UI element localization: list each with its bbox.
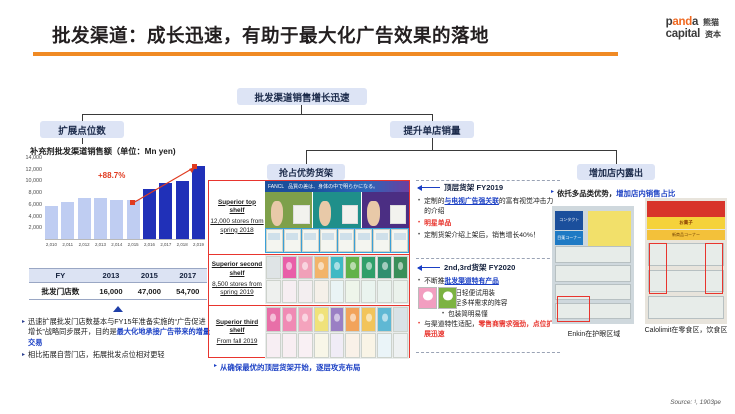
photo-a-sign: コンタクト: [555, 211, 583, 230]
list-item: •满足多样需求的阵容: [442, 299, 558, 309]
bullet-marker-icon: •: [442, 310, 444, 320]
table-cell: 54,700: [169, 283, 207, 299]
table-cell: 批发门店数: [29, 283, 92, 299]
brand-logo: panda 熊猫 capital 资本: [666, 17, 721, 40]
chart-y-tick: 10,000: [26, 178, 43, 184]
photo-b-caption: Calolimit在零食区，饮食区: [640, 326, 732, 335]
mini-product-packs: [418, 287, 457, 309]
chart-bar: [159, 183, 172, 239]
logo-en-line1: panda: [666, 17, 698, 29]
connector-to-shelf: [306, 150, 307, 164]
photo-b-highlight-box-right: [705, 243, 723, 293]
list-item-text: 定制货架介绍上架后，销售增长40%！: [424, 231, 558, 241]
list-item-text: 与渠道特性适配，零售商需求强劲，点位扩展迅速: [424, 320, 558, 340]
shelf-row-second: Superior second shelf 8,500 stores from …: [209, 254, 409, 304]
chart-x-tick: 2,010: [45, 242, 58, 247]
chart-bar: [110, 200, 123, 239]
left-bullet-list: ▸迅速扩展批发门店数基本与FY15年准备实施的“广告促进增长”战略同步展开，目的…: [22, 317, 212, 363]
shelf-bullets-fy2019: 顶层货架 FY2019 •定制的与电视广告强关联的富有视觉冲击力的介绍•明星单品…: [418, 182, 558, 242]
list-item: •明星单品: [418, 219, 558, 229]
connector-root-down: [301, 105, 302, 114]
list-item-text: 迅速扩展批发门店数基本与FY15年准备实施的“广告促进增长”战略同步展开，目的是…: [28, 317, 212, 348]
chart-x-tick: 2,018: [176, 242, 189, 247]
shelf-row-top: Superior top shelf 12,000 stores from sp…: [209, 181, 409, 253]
store-photo-calolimit: お菓子 新商品コーナー: [645, 198, 727, 324]
photo-a-shelf-2: [555, 265, 630, 282]
wholesale-sales-bar-chart: 14,00012,00010,0008,0006,0004,0002,000 2…: [12, 158, 207, 256]
chart-bar: [45, 206, 58, 239]
left-arrow-icon: [418, 187, 440, 188]
shelf-image-third: [265, 306, 409, 359]
chart-y-tick: 8,000: [29, 190, 43, 196]
list-item-text: 不断推批发渠道特有产品: [424, 277, 558, 287]
list-item: •包装简明易懂: [442, 310, 558, 320]
list-item-text: 满足多样需求的阵容: [448, 299, 558, 309]
chart-x-tick: 2,012: [78, 242, 91, 247]
table-cell: 47,000: [130, 283, 168, 299]
chart-plot-area: [45, 158, 205, 240]
shelf-bullets-fy2020-head: 2nd,3rd货架 FY2020: [418, 262, 558, 273]
table-cell: 16,000: [92, 283, 130, 299]
connector-sales-down: [432, 138, 433, 150]
photo-b-sign-line2: 新商品コーナー: [647, 230, 726, 240]
shelf-bullets-fy2019-items: •定制的与电视广告强关联的富有视觉冲击力的介绍•明星单品•定制货架介绍上架后，销…: [418, 197, 558, 240]
photo-b-highlight-box-left: [649, 243, 667, 293]
shelf-bullets-fy2020-items: •不断推批发渠道特有产品: [418, 277, 558, 287]
flow-node-store-sales[interactable]: 提升单店销量: [390, 121, 474, 138]
connector-expand-down: [82, 138, 83, 144]
page-title: 批发渠道：成长迅速，有助于最大化广告效果的落地: [52, 22, 489, 48]
shelf-grid-third: [265, 306, 409, 359]
list-item: •不断推批发渠道特有产品: [418, 277, 558, 287]
slide-root: 批发渠道：成长迅速，有助于最大化广告效果的落地 panda 熊猫 capital…: [0, 0, 735, 414]
shelf-label-second: Superior second shelf 8,500 stores from …: [209, 255, 265, 304]
list-item: ▸相比拓展自营门店，拓展批发点位相对更轻: [22, 350, 212, 360]
chart-y-tick: 14,000: [26, 155, 43, 161]
dashed-separator-mid: [416, 258, 560, 259]
shelf-grid-second: [265, 255, 409, 304]
photo-b-header-banner: [647, 201, 726, 217]
list-item: •与渠道特性适配，零售商需求强劲，点位扩展迅速: [418, 320, 558, 340]
bullet-marker-icon: •: [418, 277, 420, 287]
list-item: ▸迅速扩展批发门店数基本与FY15年准备实施的“广告促进增长”战略同步展开，目的…: [22, 317, 212, 348]
fancl-ad-panels: [265, 192, 409, 228]
logo-cn-line2: 资本: [705, 31, 721, 39]
connector-sales-horizontal: [306, 150, 616, 151]
up-arrow-icon: [113, 306, 123, 312]
left-arrow-icon-2: [418, 267, 440, 268]
chart-x-tick: 2,017: [159, 242, 172, 247]
connector-to-exposure: [616, 150, 617, 164]
chart-x-axis: 2,0102,0112,0122,0132,0142,0152,0162,017…: [45, 242, 205, 247]
dashed-separator-bottom: [416, 352, 560, 353]
logo-cn-line1: 熊猫: [703, 19, 719, 27]
flow-node-in-store-exposure[interactable]: 增加店内露出: [577, 164, 655, 180]
bullet-marker-icon: ▸: [214, 362, 217, 373]
shelf-products-top: [265, 228, 409, 253]
bullet-marker-icon: •: [418, 219, 420, 229]
chart-bar: [78, 198, 91, 239]
table-column-header: 2013: [92, 269, 130, 283]
shelf-label-top: Superior top shelf 12,000 stores from sp…: [209, 181, 265, 253]
chart-x-tick: 2,015: [127, 242, 140, 247]
shelf-bullets-fy2019-head: 顶层货架 FY2019: [418, 182, 558, 193]
table-header-row: FY201320152017: [29, 269, 207, 283]
logo-en-line2: capital: [666, 29, 700, 41]
chart-y-axis: 14,00012,00010,0008,0006,0004,0002,000: [12, 158, 44, 240]
list-item-text: 包装简明易懂: [448, 310, 558, 320]
list-item-text: 相比拓展自营门店，拓展批发点位相对更轻: [28, 350, 212, 360]
mid-caption: ▸ 从确保最优的顶层货架开始，逐层攻克布局: [214, 362, 444, 373]
chart-bar: [94, 198, 107, 239]
flow-node-expand-points[interactable]: 扩展点位数: [40, 121, 124, 138]
table-body: 批发门店数16,00047,00054,700: [29, 283, 207, 299]
shelf-label-third: Superior third shelf From fall 2019: [209, 306, 265, 359]
list-item: •定制货架介绍上架后，销售增长40%！: [418, 231, 558, 241]
table-column-header: 2015: [130, 269, 168, 283]
shelf-photo-frame: Superior top shelf 12,000 stores from sp…: [208, 180, 410, 358]
flow-node-root[interactable]: 批发渠道销售增长迅速: [237, 88, 367, 105]
chart-y-tick: 2,000: [29, 225, 43, 231]
chart-bar: [176, 181, 189, 239]
fancl-banner: FANCL品質の差は、身体の中で明らかになる。: [265, 181, 409, 192]
title-underline-rule: [33, 52, 618, 56]
chart-x-tick: 2,011: [61, 242, 74, 247]
table-column-header: 2017: [169, 269, 207, 283]
dashed-separator-top: [416, 180, 560, 181]
photo-b-shelf-3: [648, 296, 723, 319]
list-item-text: 20日轻便试用装: [448, 289, 558, 299]
bullet-marker-icon: ▸: [22, 350, 25, 360]
source-note: Source: ¹, 1903pe: [670, 399, 721, 406]
bullet-marker-icon: •: [418, 197, 420, 217]
connector-root-horizontal: [82, 114, 432, 115]
chart-x-tick: 2,013: [94, 242, 107, 247]
chart-x-tick: 2,019: [192, 242, 205, 247]
table-column-header: FY: [29, 269, 92, 283]
chart-x-tick: 2,016: [143, 242, 156, 247]
photo-a-highlight-box: [557, 296, 590, 322]
list-item-text: 明星单品: [424, 219, 558, 229]
shelf-image-top: FANCL品質の差は、身体の中で明らかになる。: [265, 181, 409, 253]
shelf-row-third: Superior third shelf From fall 2019: [209, 305, 409, 359]
list-item: •定制的与电视广告强关联的富有视觉冲击力的介绍: [418, 197, 558, 217]
list-item: •20日轻便试用装: [442, 289, 558, 299]
fy-store-count-table: FY201320152017 批发门店数16,00047,00054,700: [29, 268, 207, 300]
table-row: 批发门店数16,00047,00054,700: [29, 283, 207, 299]
chart-y-tick: 6,000: [29, 202, 43, 208]
chart-x-tick: 2,014: [110, 242, 123, 247]
bullet-marker-icon: ▸: [22, 317, 25, 348]
bullet-marker-icon-right: ▸: [551, 188, 554, 199]
shelf-bullets-fy2020-subitems: •20日轻便试用装•满足多样需求的阵容•包装简明易懂: [442, 289, 558, 320]
chart-title: 补充剂批发渠道销售额（单位：Mn yen): [30, 145, 176, 157]
chart-bar: [143, 189, 156, 239]
chart-bar: [127, 200, 140, 239]
shelf-bullets-fy2020-tail: •与渠道特性适配，零售商需求强劲，点位扩展迅速: [418, 320, 558, 340]
shelf-image-second: [265, 255, 409, 304]
chart-bar: [192, 166, 205, 239]
bullet-marker-icon: •: [418, 320, 420, 340]
store-photo-enkin: コンタクト 目薬コーナー: [552, 206, 634, 324]
bullet-marker-icon: •: [418, 231, 420, 241]
chart-y-tick: 4,000: [29, 214, 43, 220]
chart-bar: [61, 202, 74, 239]
chart-y-tick: 12,000: [26, 167, 43, 173]
photo-b-sign-line1: お菓子: [647, 217, 726, 230]
photo-a-caption: Enkin在护眼区域: [548, 330, 640, 339]
photo-a-shelf-1: [555, 246, 630, 263]
photo-a-sign-2: 目薬コーナー: [555, 231, 583, 245]
list-item-text: 定制的与电视广告强关联的富有视觉冲击力的介绍: [424, 197, 558, 217]
flow-node-seize-shelf[interactable]: 抢占优势货架: [267, 164, 345, 180]
